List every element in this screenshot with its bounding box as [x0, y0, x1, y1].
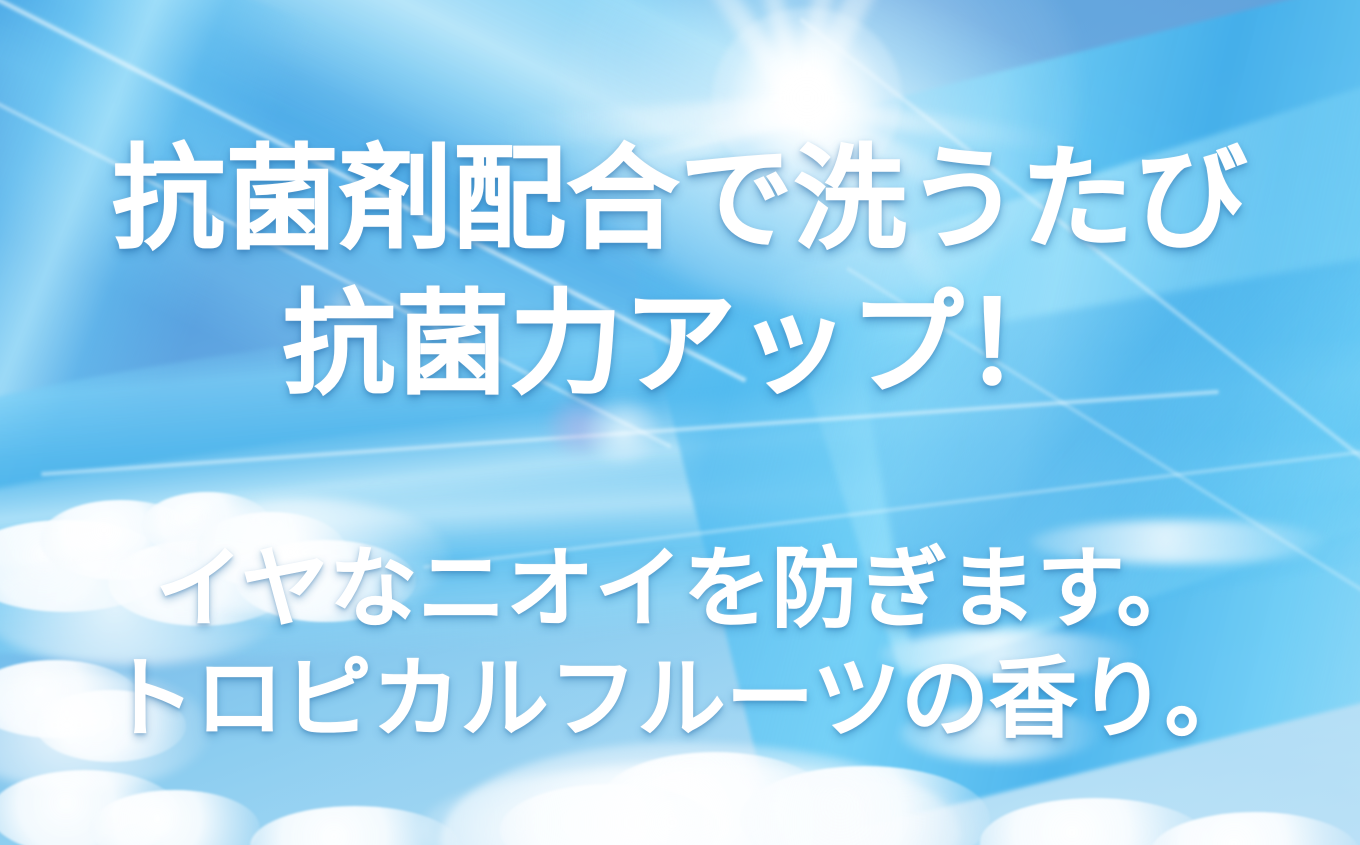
subcopy-line-2: トロピカルフルーツの香り。: [0, 655, 1360, 743]
banner-copy: 抗菌剤配合で洗うたび 抗菌力アップ！ イヤなニオイを防ぎます。 トロピカルフルー…: [0, 0, 1360, 845]
subcopy-line-1: イヤなニオイを防ぎます。: [0, 545, 1360, 633]
headline-line-2: 抗菌力アップ！: [0, 288, 1360, 401]
promotional-banner: 抗菌剤配合で洗うたび 抗菌力アップ！ イヤなニオイを防ぎます。 トロピカルフルー…: [0, 0, 1360, 845]
headline-line-1: 抗菌剤配合で洗うたび: [0, 143, 1360, 256]
